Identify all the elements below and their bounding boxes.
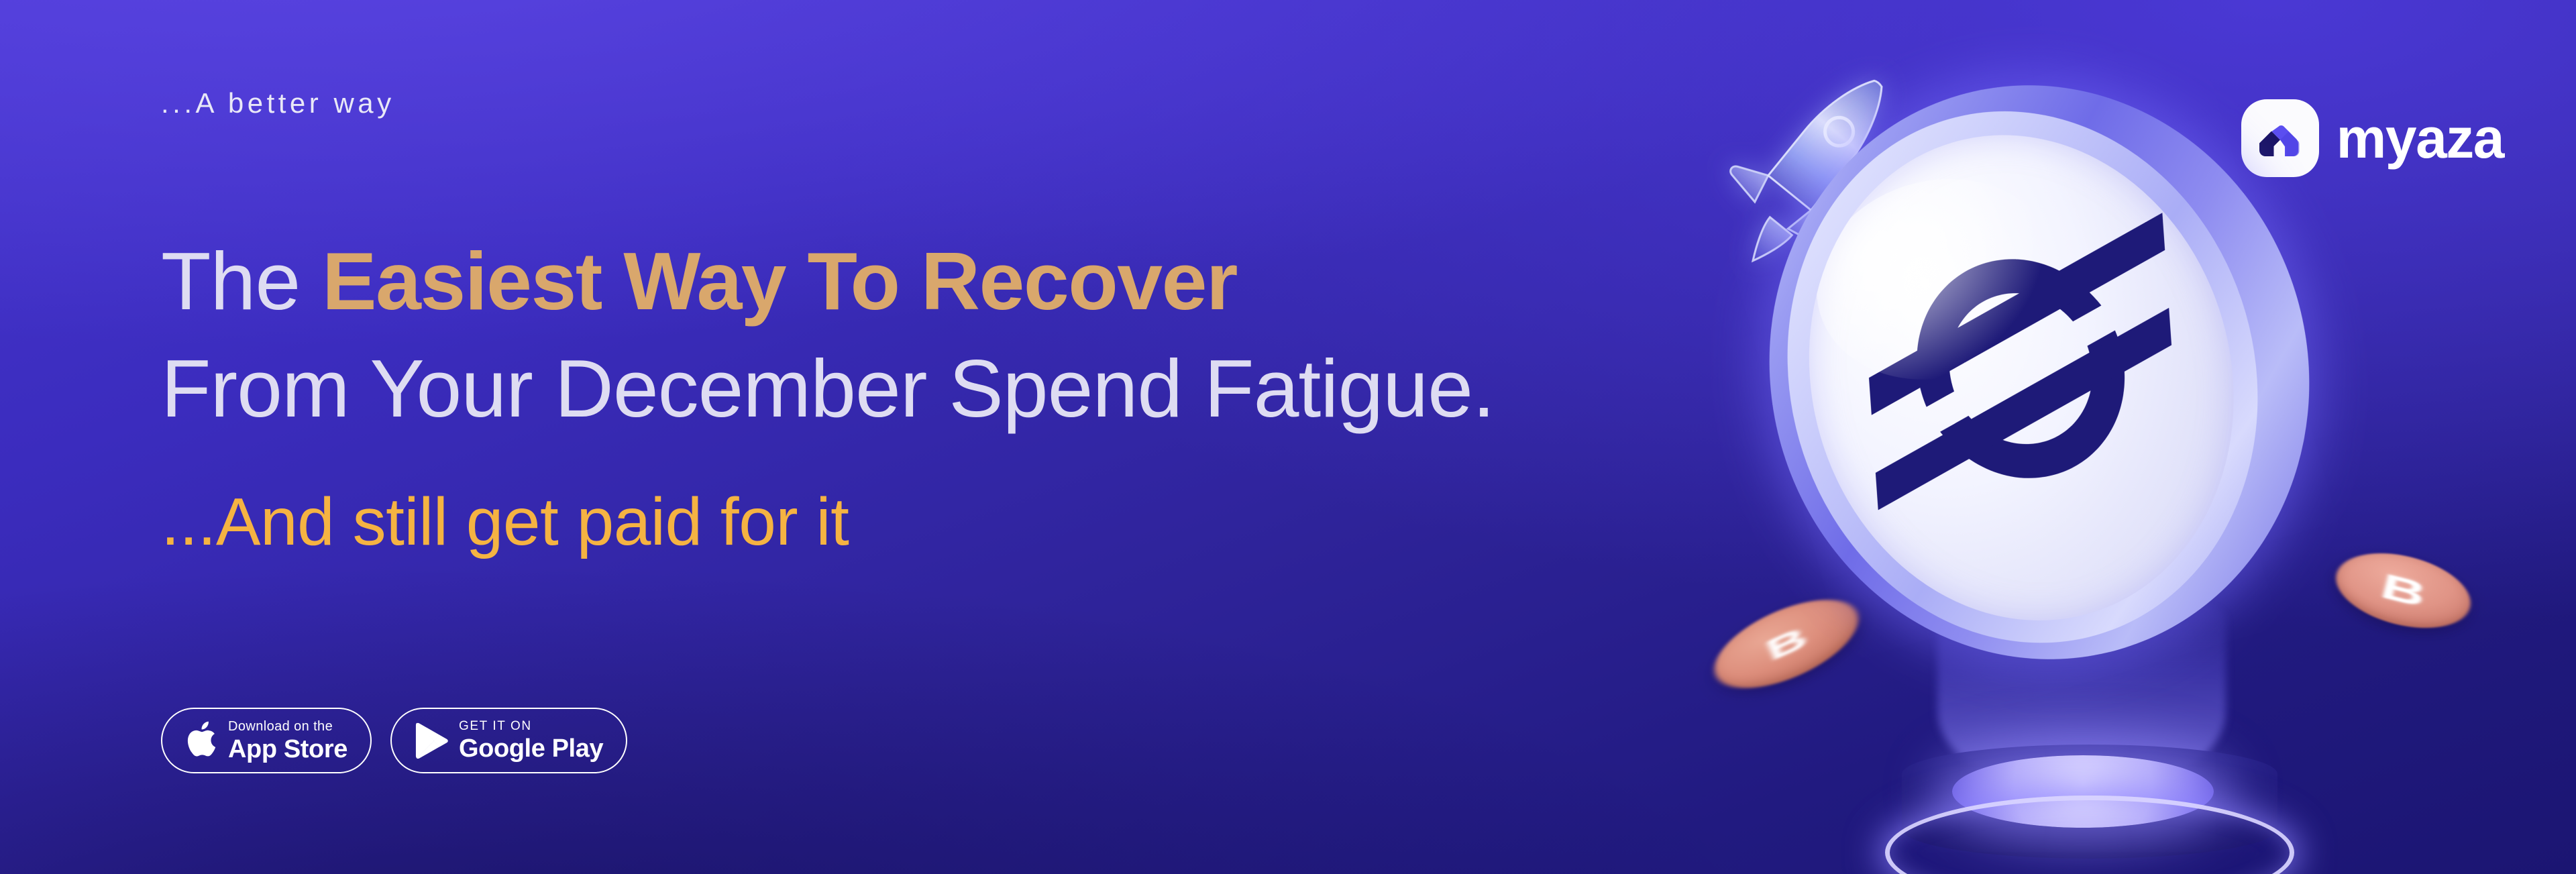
bitcoin-symbol-left: B: [1761, 620, 1813, 667]
headline-emphasis: Easiest Way To Recover: [322, 235, 1237, 327]
stellar-rocket-orbit-icon: [1752, 84, 2290, 671]
coin-gloss-highlight: [1792, 152, 2080, 407]
glass-rocket-icon: [1694, 64, 1915, 285]
bitcoin-symbol-right: B: [2377, 566, 2430, 615]
google-play-labels: GET IT ON Google Play: [459, 720, 603, 761]
eyebrow-tagline: ...A better way: [161, 87, 395, 119]
myaza-chevron-mark-icon: [2241, 99, 2319, 177]
app-store-button[interactable]: Download on the App Store: [161, 708, 372, 773]
app-store-bottom-label: App Store: [228, 736, 347, 762]
headline-subline: ...And still get paid for it: [161, 488, 849, 555]
glowing-pedestal-disc: [1952, 755, 2214, 828]
bitcoin-coin-right: B: [2328, 541, 2479, 641]
google-play-button[interactable]: GET IT ON Google Play: [390, 708, 627, 773]
app-store-labels: Download on the App Store: [228, 720, 347, 762]
apple-logo-icon: [185, 721, 217, 760]
headline-line-1: The Easiest Way To Recover: [161, 240, 1237, 322]
headline-line-2: From Your December Spend Fatigue.: [161, 347, 1495, 429]
google-play-triangle-icon: [415, 722, 448, 759]
app-store-top-label: Download on the: [228, 720, 347, 733]
google-play-top-label: GET IT ON: [459, 720, 603, 732]
headline-prefix: The: [161, 235, 322, 327]
hero-copy: ...A better way The Easiest Way To Recov…: [161, 0, 1704, 874]
brand-wordmark: myaza: [2337, 110, 2504, 166]
pedestal-light-beam: [1937, 590, 2226, 791]
coin-glow: [1758, 127, 2321, 691]
google-play-bottom-label: Google Play: [459, 736, 603, 761]
store-badges: Download on the App Store GET IT ON Goog…: [161, 708, 627, 773]
pedestal-body: [1902, 745, 2277, 859]
pedestal-neon-ring: [1885, 796, 2294, 874]
promo-banner: ...A better way The Easiest Way To Recov…: [0, 0, 2576, 874]
coin-rim: [1725, 55, 2320, 699]
brand-logo[interactable]: myaza: [2241, 99, 2504, 177]
bitcoin-coin-left: B: [1702, 582, 1870, 706]
coin-face: [1752, 84, 2290, 671]
